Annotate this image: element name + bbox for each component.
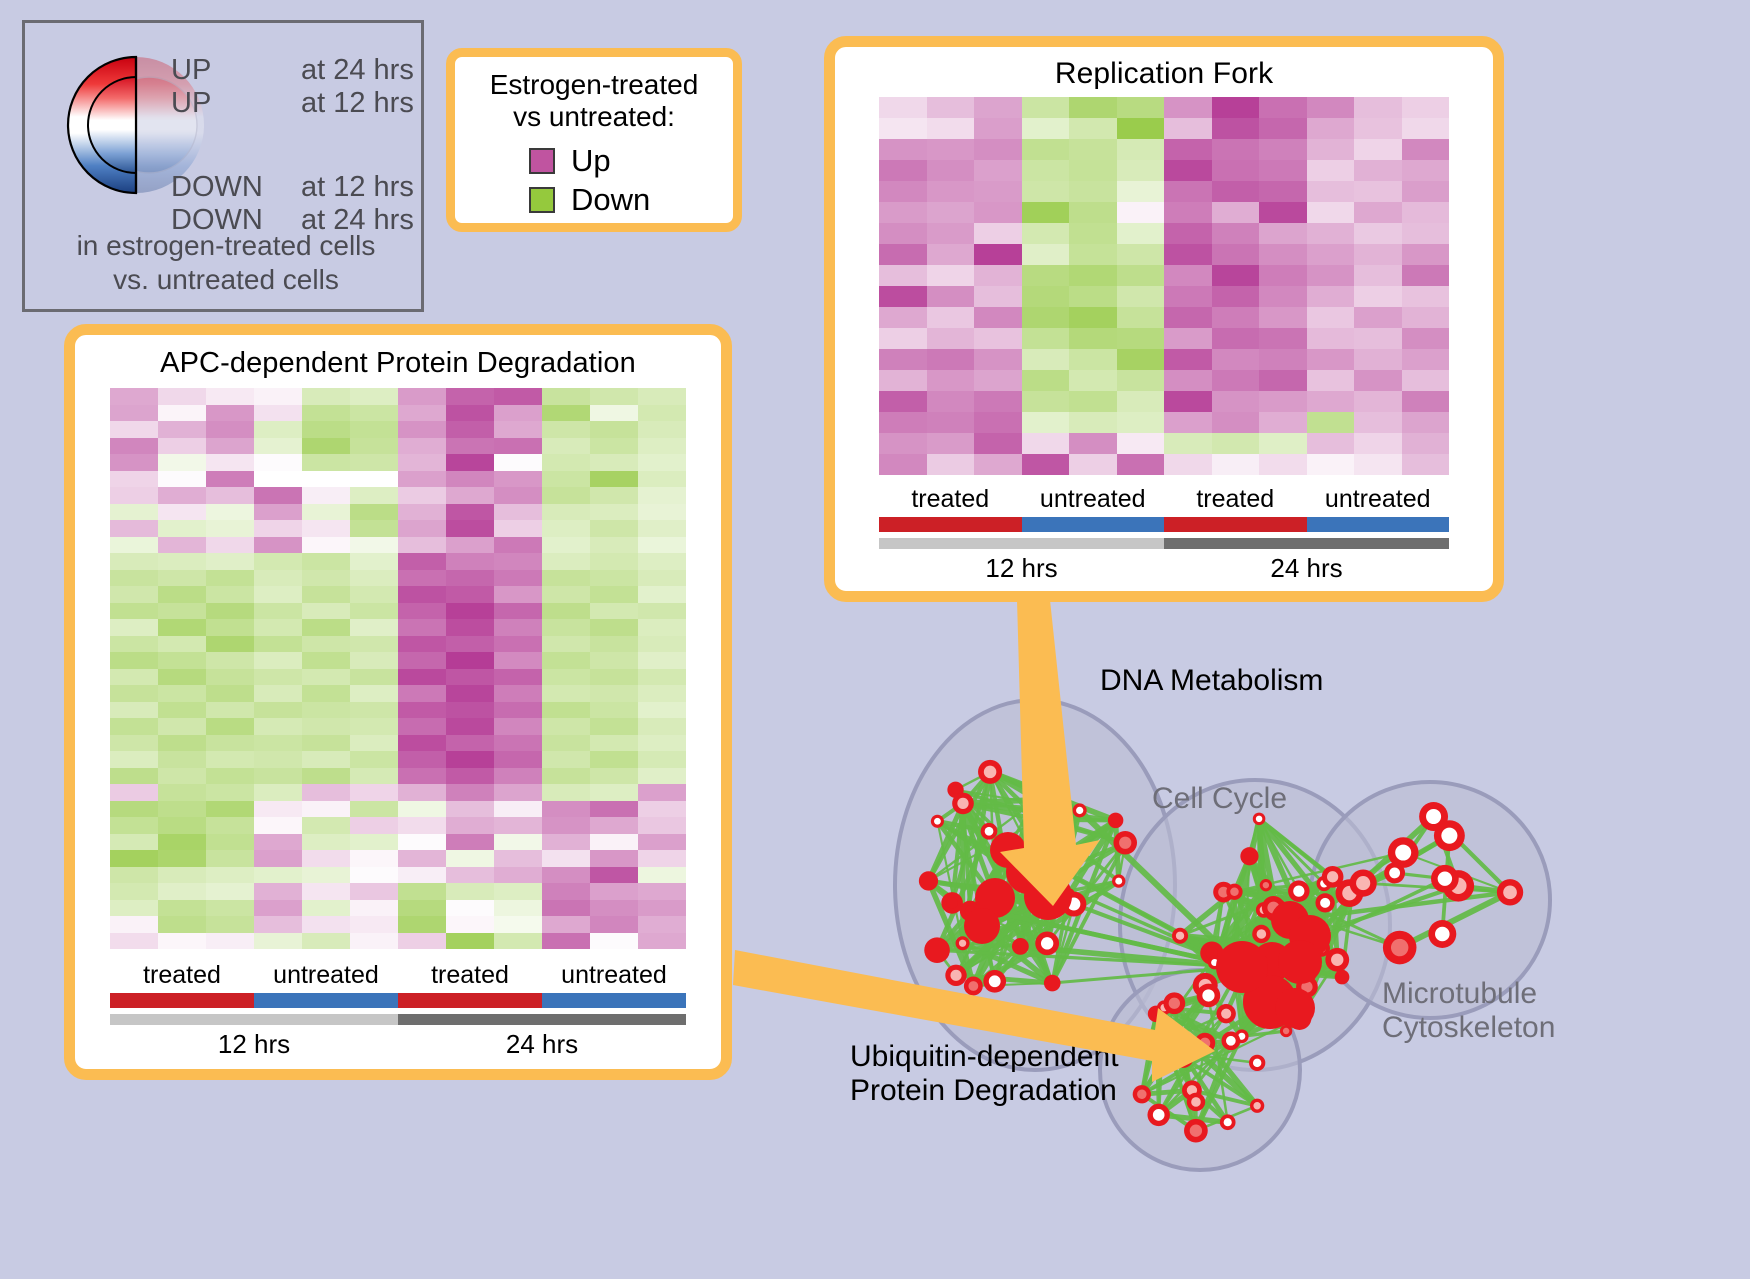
heatmap-cell <box>350 520 398 537</box>
heatmap-cell <box>446 421 494 438</box>
treatment-label: untreated <box>1307 485 1450 514</box>
heatmap-cell <box>1164 160 1212 181</box>
heatmap-cell <box>494 883 542 900</box>
heatmap-cell <box>879 265 927 286</box>
heatmap-cell <box>1212 139 1260 160</box>
heatmap-cell <box>350 834 398 851</box>
cluster-label-dna-metabolism: DNA Metabolism <box>1100 664 1323 698</box>
heatmap-cell <box>206 834 254 851</box>
heatmap-cell <box>542 553 590 570</box>
heatmap-cell <box>879 202 927 223</box>
heatmap-cell <box>158 603 206 620</box>
heatmap-cell <box>927 160 975 181</box>
heatmap-cell <box>302 553 350 570</box>
heatmap-cell <box>638 669 686 686</box>
network-edge <box>1039 820 1116 821</box>
treatment-label: treated <box>879 485 1022 514</box>
heatmap-cell <box>110 520 158 537</box>
heatmap-cell <box>1022 244 1070 265</box>
heatmap-cell <box>254 801 302 818</box>
heatmap-cell <box>974 97 1022 118</box>
heatmap-cell <box>927 433 975 454</box>
heatmap-cell <box>110 801 158 818</box>
heatmap-cell <box>590 850 638 867</box>
heatmap-cell <box>158 702 206 719</box>
color-key-footer: in estrogen-treated cells vs. untreated … <box>25 229 427 297</box>
network-node <box>1012 938 1029 955</box>
heatmap-cell <box>590 933 638 950</box>
heatmap-cell <box>206 570 254 587</box>
heatmap-cell <box>302 636 350 653</box>
heatmap-cell <box>879 286 927 307</box>
heatmap-cell <box>638 603 686 620</box>
heatmap-cell <box>1117 286 1165 307</box>
network-node-core <box>1283 1028 1289 1034</box>
cluster-label-microtubule-cytoskeleton: Microtubule Cytoskeleton <box>1382 977 1555 1044</box>
heatmap-cell <box>350 784 398 801</box>
heatmap-cell <box>158 619 206 636</box>
heatmap-cell <box>206 669 254 686</box>
heatmap-cell <box>398 487 446 504</box>
heatmap-cell <box>446 405 494 422</box>
heatmap-cell <box>1069 328 1117 349</box>
heatmap-cell <box>1402 412 1450 433</box>
heatmap-cell <box>398 768 446 785</box>
heatmap-cell <box>110 669 158 686</box>
heatmap-cell <box>302 817 350 834</box>
timepoint-color-bar <box>110 1014 686 1025</box>
network-node-core <box>1327 871 1338 882</box>
heatmap-cell <box>350 636 398 653</box>
heatmap-apc-degradation <box>110 388 686 949</box>
heatmap-cell <box>542 801 590 818</box>
heatmap-cell <box>158 735 206 752</box>
heatmap-cell <box>1117 328 1165 349</box>
heatmap-cell <box>110 850 158 867</box>
heatmap-cell <box>398 405 446 422</box>
heatmap-cell <box>110 586 158 603</box>
heatmap-cell <box>206 751 254 768</box>
heatmap-cell <box>446 603 494 620</box>
network-node-core <box>934 818 941 825</box>
heatmap-cell <box>1259 349 1307 370</box>
heatmap-cell <box>494 801 542 818</box>
heatmap-cell <box>974 349 1022 370</box>
heatmap-cell <box>206 520 254 537</box>
timepoint-bar-segment <box>1164 538 1449 549</box>
network-node-core <box>1031 794 1043 806</box>
heatmap-cell <box>1117 349 1165 370</box>
heatmap-cell <box>1022 286 1070 307</box>
heatmap-cell <box>1402 265 1450 286</box>
heatmap-cell <box>879 454 927 475</box>
heatmap-cell <box>879 433 927 454</box>
heatmap-cell <box>638 520 686 537</box>
legend-card: Estrogen-treated vs untreated: Up Down <box>446 48 742 232</box>
heatmap-cell <box>494 751 542 768</box>
heatmap-cell <box>254 916 302 933</box>
heatmap-cell <box>206 636 254 653</box>
heatmap-cell <box>1069 265 1117 286</box>
heatmap-cell <box>542 784 590 801</box>
heatmap-cell <box>927 454 975 475</box>
heatmap-cell <box>1069 202 1117 223</box>
heatmap-cell <box>206 504 254 521</box>
heatmap-cell <box>206 471 254 488</box>
heatmap-cell <box>446 586 494 603</box>
heatmap-cell <box>1259 118 1307 139</box>
heatmap-cell <box>350 553 398 570</box>
network-node-core <box>1048 979 1057 988</box>
heatmap-cell <box>1164 349 1212 370</box>
heatmap-cell <box>158 570 206 587</box>
heatmap-cell <box>446 487 494 504</box>
heatmap-cell <box>158 751 206 768</box>
heatmap-cell <box>494 586 542 603</box>
heatmap-cell <box>110 702 158 719</box>
heatmap-cell <box>206 916 254 933</box>
heatmap-cell <box>206 900 254 917</box>
legend-swatch-up-icon <box>529 148 555 174</box>
heatmap-cell <box>542 454 590 471</box>
heatmap-cell <box>1117 454 1165 475</box>
heatmap-cell <box>542 619 590 636</box>
heatmap-cell <box>158 421 206 438</box>
heatmap-cell <box>254 702 302 719</box>
heatmap-cell <box>350 735 398 752</box>
heatmap-cell <box>350 801 398 818</box>
color-key-direction: DOWN <box>171 172 301 203</box>
heatmap-cell <box>1354 244 1402 265</box>
heatmap-cell <box>398 933 446 950</box>
network-node-core <box>968 981 978 991</box>
heatmap-cell <box>1259 286 1307 307</box>
heatmap-cell <box>1402 454 1450 475</box>
heatmap-cell <box>542 537 590 554</box>
heatmap-cell <box>206 388 254 405</box>
heatmap-cell <box>1117 160 1165 181</box>
heatmap-cell <box>254 520 302 537</box>
heatmap-cell <box>879 370 927 391</box>
heatmap-cell <box>302 487 350 504</box>
heatmap-cell <box>542 504 590 521</box>
heatmap-cell <box>974 223 1022 244</box>
heatmap-cell <box>1354 454 1402 475</box>
heatmap-cell <box>254 487 302 504</box>
heatmap-cell <box>1117 265 1165 286</box>
heatmap-cell <box>398 586 446 603</box>
network-node-core <box>984 766 997 779</box>
heatmap-cell <box>1259 454 1307 475</box>
heatmap-cell <box>398 900 446 917</box>
heatmap-cell <box>254 817 302 834</box>
cluster-label-line2: Cytoskeleton <box>1382 1011 1555 1045</box>
cluster-label-line1: Ubiquitin-dependent <box>850 1040 1119 1074</box>
heatmap-cell <box>879 349 927 370</box>
heatmap-cell <box>350 718 398 735</box>
network-node <box>1024 872 1072 920</box>
heatmap-cell <box>206 817 254 834</box>
heatmap-cell <box>206 702 254 719</box>
network-node-core <box>1176 932 1184 940</box>
heatmap-cell <box>590 768 638 785</box>
heatmap-cell <box>1212 391 1260 412</box>
heatmap-axis-replication-fork: treated untreated treated untreated 12 h… <box>879 485 1449 584</box>
heatmap-cell <box>254 883 302 900</box>
heatmap-cell <box>1164 118 1212 139</box>
heatmap-cell <box>158 471 206 488</box>
heatmap-cell <box>302 603 350 620</box>
heatmap-cell <box>158 553 206 570</box>
color-key-row: UP at 24 hrs <box>171 55 421 86</box>
heatmap-cell <box>590 900 638 917</box>
network-node-core <box>1178 1052 1189 1063</box>
heatmap-cell <box>1164 139 1212 160</box>
heatmap-cell <box>254 471 302 488</box>
heatmap-cell <box>1069 223 1117 244</box>
heatmap-cell <box>1307 118 1355 139</box>
timepoint-bar-segment <box>398 1014 686 1025</box>
heatmap-cell <box>254 735 302 752</box>
network-node-core <box>1076 807 1083 814</box>
heatmap-cell <box>1164 265 1212 286</box>
network-node-core <box>951 786 960 795</box>
heatmap-cell <box>494 768 542 785</box>
heatmap-cell <box>1259 391 1307 412</box>
heatmap-cell <box>206 487 254 504</box>
heatmap-cell <box>446 933 494 950</box>
heatmap-cell <box>110 900 158 917</box>
heatmap-cell <box>350 685 398 702</box>
network-node <box>919 871 938 890</box>
heatmap-cell <box>110 438 158 455</box>
heatmap-cell <box>350 883 398 900</box>
heatmap-cell <box>1022 370 1070 391</box>
heatmap-cell <box>1022 97 1070 118</box>
heatmap-cell <box>110 735 158 752</box>
heatmap-cell <box>974 160 1022 181</box>
heatmap-cell <box>542 735 590 752</box>
network-node-core <box>1200 1038 1211 1049</box>
heatmap-cell <box>350 933 398 950</box>
heatmap-cell <box>590 636 638 653</box>
heatmap-cell <box>1022 118 1070 139</box>
heatmap-cell <box>542 636 590 653</box>
heatmap-cell <box>398 850 446 867</box>
heatmap-cell <box>638 867 686 884</box>
heatmap-cell <box>446 685 494 702</box>
heatmap-cell <box>542 702 590 719</box>
heatmap-cell <box>927 223 975 244</box>
heatmap-cell <box>1164 244 1212 265</box>
heatmap-cell <box>254 570 302 587</box>
heatmap-cell <box>542 603 590 620</box>
heatmap-cell <box>254 850 302 867</box>
heatmap-cell <box>590 405 638 422</box>
heatmap-cell <box>158 817 206 834</box>
heatmap-cell <box>254 784 302 801</box>
heatmap-cell <box>638 784 686 801</box>
heatmap-cell <box>302 586 350 603</box>
heatmap-cell <box>254 421 302 438</box>
heatmap-cell <box>302 520 350 537</box>
heatmap-cell <box>974 454 1022 475</box>
heatmap-cell <box>254 586 302 603</box>
heatmap-cell <box>494 636 542 653</box>
heatmap-cell <box>398 685 446 702</box>
network-node-core <box>1253 1059 1261 1067</box>
heatmap-cell <box>494 487 542 504</box>
heatmap-cell <box>590 438 638 455</box>
heatmap-cell <box>494 850 542 867</box>
heatmap-cell <box>927 349 975 370</box>
heatmap-cell <box>927 307 975 328</box>
heatmap-cell <box>398 421 446 438</box>
heatmap-cell <box>1164 97 1212 118</box>
heatmap-cell <box>638 883 686 900</box>
heatmap-cell <box>1402 328 1450 349</box>
heatmap-cell <box>398 652 446 669</box>
heatmap-cell <box>158 933 206 950</box>
heatmap-cell <box>1259 265 1307 286</box>
heatmap-cell <box>590 801 638 818</box>
network-node <box>1216 941 1268 993</box>
heatmap-cell <box>302 471 350 488</box>
heatmap-cell <box>398 636 446 653</box>
heatmap-cell <box>254 454 302 471</box>
heatmap-cell <box>206 619 254 636</box>
heatmap-cell <box>542 405 590 422</box>
heatmap-cell <box>1022 412 1070 433</box>
heatmap-cell <box>1307 412 1355 433</box>
heatmap-cell <box>974 202 1022 223</box>
heatmap-cell <box>542 520 590 537</box>
heatmap-cell <box>494 537 542 554</box>
heatmap-cell <box>590 702 638 719</box>
treatment-bar-segment <box>110 993 254 1008</box>
heatmap-cell <box>590 751 638 768</box>
heatmap-cell <box>494 784 542 801</box>
heatmap-cell <box>302 504 350 521</box>
heatmap-cell <box>1307 139 1355 160</box>
heatmap-cell <box>110 537 158 554</box>
heatmap-cell <box>927 97 975 118</box>
heatmap-cell <box>1069 370 1117 391</box>
heatmap-cell <box>494 652 542 669</box>
heatmap-cell <box>398 817 446 834</box>
heatmap-cell <box>1354 265 1402 286</box>
heatmap-cell <box>590 586 638 603</box>
heatmap-cell <box>1069 454 1117 475</box>
heatmap-cell <box>302 669 350 686</box>
heatmap-cell <box>158 867 206 884</box>
heatmap-cell <box>158 652 206 669</box>
heatmap-cell <box>1069 433 1117 454</box>
heatmap-cell <box>1212 118 1260 139</box>
heatmap-cell <box>110 603 158 620</box>
heatmap-cell <box>494 867 542 884</box>
heatmap-cell <box>350 537 398 554</box>
heatmap-cell <box>110 867 158 884</box>
heatmap-cell <box>158 718 206 735</box>
heatmap-cell <box>158 685 206 702</box>
heatmap-cell <box>350 867 398 884</box>
heatmap-cell <box>206 421 254 438</box>
treatment-labels: treated untreated treated untreated <box>879 485 1449 514</box>
heatmap-cell <box>542 817 590 834</box>
cluster-label-line2: Protein Degradation <box>850 1074 1119 1108</box>
heatmap-cell <box>974 265 1022 286</box>
heatmap-cell <box>1354 412 1402 433</box>
heatmap-cell <box>398 471 446 488</box>
heatmap-cell <box>494 718 542 735</box>
heatmap-cell <box>350 702 398 719</box>
heatmap-cell <box>302 421 350 438</box>
heatmap-cell <box>254 619 302 636</box>
heatmap-cell <box>638 817 686 834</box>
heatmap-cell <box>1117 370 1165 391</box>
heatmap-cell <box>350 619 398 636</box>
color-key-direction: UP <box>171 55 301 86</box>
heatmap-cell <box>1307 370 1355 391</box>
heatmap-cell <box>494 619 542 636</box>
heatmap-cell <box>494 900 542 917</box>
heatmap-cell <box>494 520 542 537</box>
heatmap-cell <box>974 181 1022 202</box>
heatmap-cell <box>254 867 302 884</box>
heatmap-cell <box>110 883 158 900</box>
heatmap-cell <box>158 850 206 867</box>
heatmap-cell <box>927 391 975 412</box>
heatmap-cell <box>590 784 638 801</box>
color-key-time: at 12 hrs <box>301 88 414 119</box>
heatmap-cell <box>110 685 158 702</box>
heatmap-cell <box>206 553 254 570</box>
heatmap-cell <box>254 718 302 735</box>
heatmap-cell <box>1402 307 1450 328</box>
heatmap-cell <box>1069 349 1117 370</box>
heatmap-cell <box>1022 181 1070 202</box>
heatmap-cell <box>590 867 638 884</box>
network-node <box>1031 832 1052 853</box>
network-node-core <box>1119 837 1131 849</box>
heatmap-cell <box>302 537 350 554</box>
heatmap-cell <box>1164 454 1212 475</box>
heatmap-cell <box>542 834 590 851</box>
heatmap-cell <box>494 603 542 620</box>
heatmap-cell <box>1117 223 1165 244</box>
heatmap-cell <box>110 487 158 504</box>
heatmap-cell <box>494 735 542 752</box>
heatmap-cell <box>446 867 494 884</box>
heatmap-cell <box>590 421 638 438</box>
heatmap-cell <box>638 636 686 653</box>
legend-label-up: Up <box>571 143 611 179</box>
network-node-core <box>1112 816 1120 824</box>
network-node-core <box>1320 898 1330 908</box>
heatmap-cell <box>1259 433 1307 454</box>
heatmap-cell <box>1022 454 1070 475</box>
treatment-bar-segment <box>254 993 398 1008</box>
heatmap-cell <box>398 801 446 818</box>
heatmap-cell <box>1164 202 1212 223</box>
heatmap-cell <box>1212 307 1260 328</box>
heatmap-cell <box>206 718 254 735</box>
heatmap-cell <box>1354 202 1402 223</box>
heatmap-cell <box>1212 328 1260 349</box>
cluster-label-line1: Microtubule <box>1382 977 1555 1011</box>
heatmap-cell <box>1212 265 1260 286</box>
